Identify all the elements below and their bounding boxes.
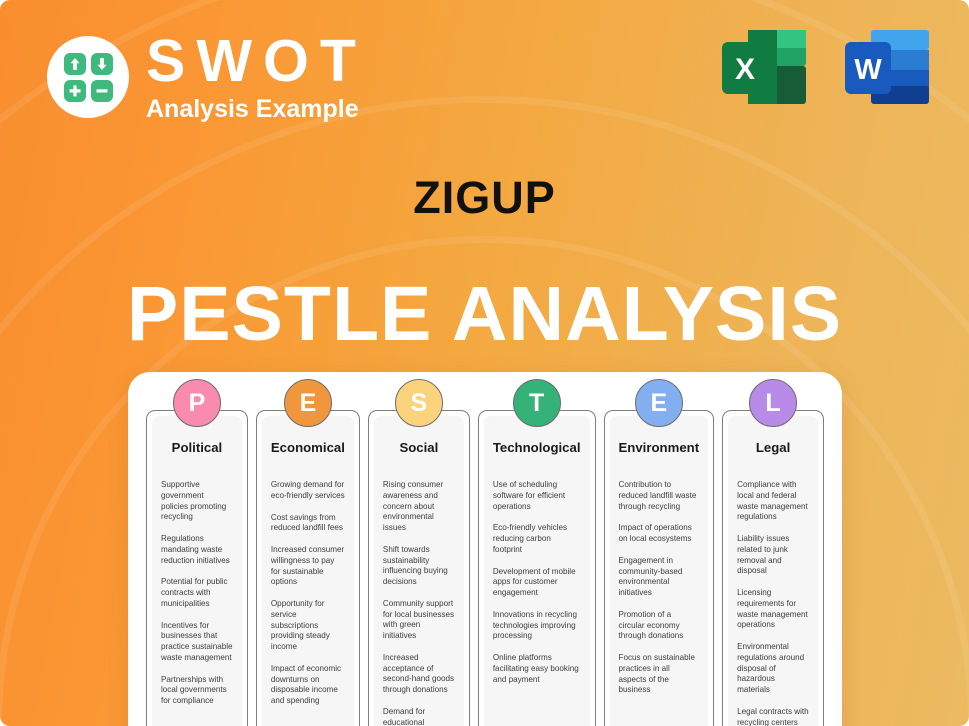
pestle-column-economical: E Economical Growing demand for eco-frie… bbox=[256, 410, 360, 726]
list-item: Partnerships with local governments for … bbox=[161, 675, 233, 707]
swot-calculator-icon bbox=[47, 36, 129, 118]
excel-icon[interactable]: X bbox=[718, 26, 810, 110]
list-item: Regulations mandating waste reduction in… bbox=[161, 534, 233, 566]
pestle-card: P Political Supportive government polici… bbox=[128, 372, 842, 726]
arrow-down-icon bbox=[91, 53, 113, 75]
list-item: Innovations in recycling technologies im… bbox=[493, 610, 581, 642]
list-item: Opportunity for service subscriptions pr… bbox=[271, 599, 345, 653]
column-title-legal: Legal bbox=[737, 440, 809, 455]
column-title-economical: Economical bbox=[271, 440, 345, 455]
list-item: Increased consumer willingness to pay fo… bbox=[271, 545, 345, 588]
brand-subtitle: Analysis Example bbox=[146, 97, 367, 122]
list-item: Rising consumer awareness and concern ab… bbox=[383, 480, 455, 534]
column-title-social: Social bbox=[383, 440, 455, 455]
plus-icon bbox=[64, 80, 86, 102]
svg-text:X: X bbox=[735, 53, 755, 86]
list-item: Impact of operations on local ecosystems bbox=[619, 523, 700, 545]
list-item: Supportive government policies promoting… bbox=[161, 480, 233, 523]
badge-social: S bbox=[395, 379, 443, 427]
pestle-column-social: S Social Rising consumer awareness and c… bbox=[368, 410, 470, 726]
list-item: Impact of economic downturns on disposab… bbox=[271, 664, 345, 707]
column-title-technological: Technological bbox=[493, 440, 581, 455]
list-item: Growing demand for eco-friendly services bbox=[271, 480, 345, 502]
svg-text:W: W bbox=[854, 54, 882, 86]
list-item: Online platforms facilitating easy booki… bbox=[493, 653, 581, 685]
badge-economical: E bbox=[284, 379, 332, 427]
brand-title: SWOT bbox=[146, 32, 367, 91]
list-item: Licensing requirements for waste managem… bbox=[737, 588, 809, 631]
list-item: Incentives for businesses that practice … bbox=[161, 621, 233, 664]
page-title: PESTLE ANALYSIS bbox=[0, 276, 969, 353]
word-icon[interactable]: W bbox=[841, 26, 933, 110]
column-title-political: Political bbox=[161, 440, 233, 455]
list-item: Cost savings from reduced landfill fees bbox=[271, 513, 345, 535]
list-item: Potential for public contracts with muni… bbox=[161, 577, 233, 609]
list-item: Demand for educational resources on wast… bbox=[383, 707, 455, 726]
list-item: Shift towards sustainability influencing… bbox=[383, 545, 455, 588]
badge-environment: E bbox=[635, 379, 683, 427]
pestle-column-technological: T Technological Use of scheduling softwa… bbox=[478, 410, 596, 726]
pestle-column-environment: E Environment Contribution to reduced la… bbox=[604, 410, 715, 726]
list-item: Eco-friendly vehicles reducing carbon fo… bbox=[493, 523, 581, 555]
badge-political: P bbox=[173, 379, 221, 427]
list-item: Environmental regulations around disposa… bbox=[737, 642, 809, 696]
pestle-analysis-slide: SWOT Analysis Example X W bbox=[0, 0, 969, 726]
list-item: Engagement in community-based environmen… bbox=[619, 556, 700, 599]
list-item: Community support for local businesses w… bbox=[383, 599, 455, 642]
list-item: Focus on sustainable practices in all as… bbox=[619, 653, 700, 696]
company-name: ZIGUP bbox=[0, 172, 969, 224]
pestle-column-political: P Political Supportive government polici… bbox=[146, 410, 248, 726]
list-item: Increased acceptance of second-hand good… bbox=[383, 653, 455, 696]
arrow-up-icon bbox=[64, 53, 86, 75]
pestle-column-legal: L Legal Compliance with local and federa… bbox=[722, 410, 824, 726]
list-item: Promotion of a circular economy through … bbox=[619, 610, 700, 642]
list-item: Liability issues related to junk removal… bbox=[737, 534, 809, 577]
column-title-environment: Environment bbox=[619, 440, 700, 455]
list-item: Legal contracts with recycling centers a… bbox=[737, 707, 809, 726]
badge-technological: T bbox=[513, 379, 561, 427]
list-item: Use of scheduling software for efficient… bbox=[493, 480, 581, 512]
minus-icon bbox=[91, 80, 113, 102]
list-item: Development of mobile apps for customer … bbox=[493, 567, 581, 599]
swot-brand-logo: SWOT Analysis Example bbox=[47, 32, 367, 122]
list-item: Contribution to reduced landfill waste t… bbox=[619, 480, 700, 512]
office-icons-group: X W bbox=[718, 26, 933, 110]
badge-legal: L bbox=[749, 379, 797, 427]
list-item: Compliance with local and federal waste … bbox=[737, 480, 809, 523]
